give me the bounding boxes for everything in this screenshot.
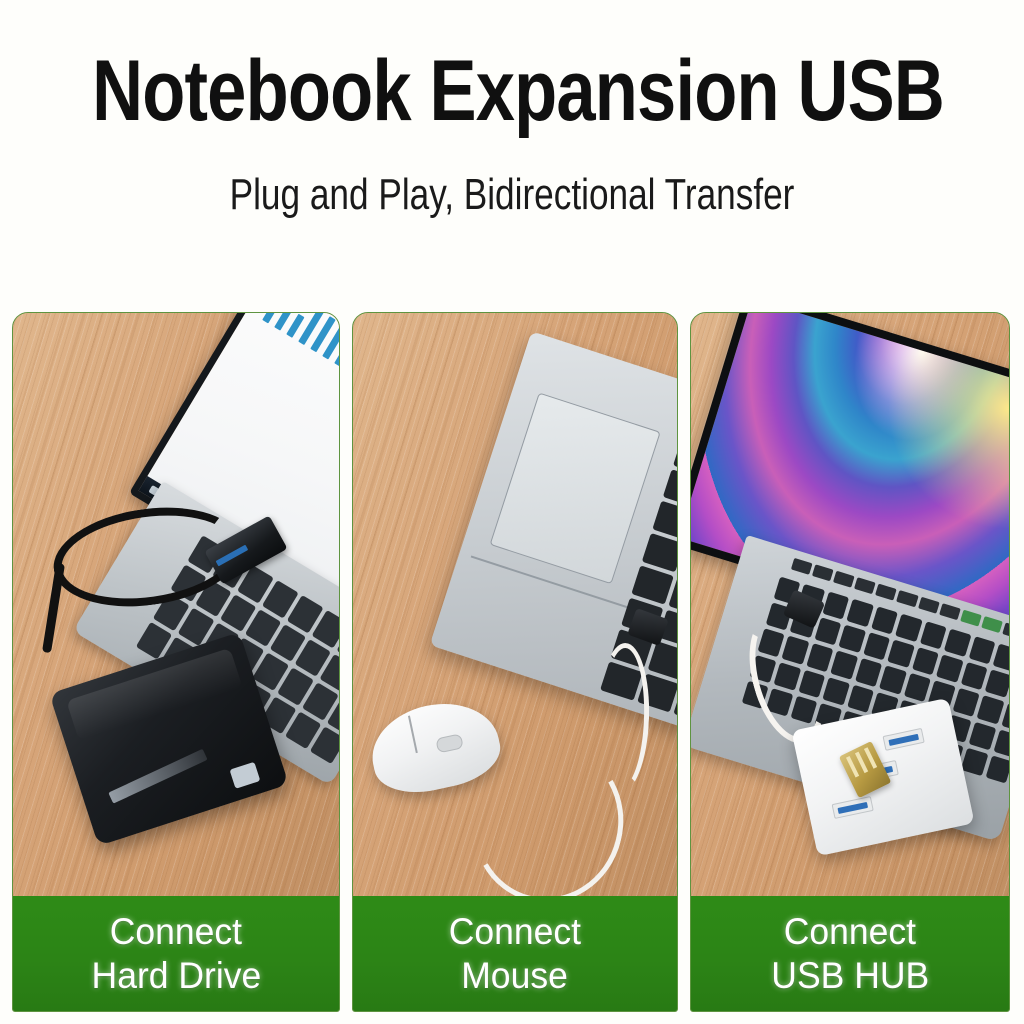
usb-port bbox=[832, 796, 874, 819]
caption-line-1: Connect bbox=[110, 911, 242, 952]
caption-line-2: Mouse bbox=[462, 955, 569, 996]
feature-panel-hard-drive: Connect Hard Drive bbox=[12, 312, 340, 1012]
feature-panel-mouse: Connect Mouse bbox=[352, 312, 678, 1012]
page-subtitle: Plug and Play, Bidirectional Transfer bbox=[102, 170, 921, 220]
page-title: Notebook Expansion USB bbox=[92, 42, 932, 141]
screen-bar-chart bbox=[259, 313, 339, 421]
header: Notebook Expansion USB Plug and Play, Bi… bbox=[0, 0, 1024, 300]
caption-usb-hub: Connect USB HUB bbox=[691, 896, 1009, 1011]
caption-line-1: Connect bbox=[449, 911, 581, 952]
caption-line-1: Connect bbox=[784, 911, 916, 952]
usb-connector-contacts bbox=[839, 741, 892, 798]
caption-mouse: Connect Mouse bbox=[353, 896, 677, 1011]
usb-port bbox=[883, 728, 925, 751]
caption-hard-drive: Connect Hard Drive bbox=[13, 896, 339, 1011]
laptop-trackpad bbox=[490, 392, 661, 584]
hard-drive-badge bbox=[229, 762, 260, 789]
hard-drive-logo bbox=[108, 749, 207, 804]
caption-line-2: Hard Drive bbox=[91, 955, 261, 996]
feature-panel-usb-hub: MacBook Pro Connect USB HUB bbox=[690, 312, 1010, 1012]
scene-mouse bbox=[353, 313, 677, 898]
caption-line-2: USB HUB bbox=[771, 955, 929, 996]
mouse-button-split bbox=[408, 716, 417, 754]
scene-hard-drive bbox=[13, 313, 339, 898]
mouse-scroll-wheel bbox=[435, 733, 464, 753]
scene-usb-hub: MacBook Pro bbox=[691, 313, 1009, 898]
